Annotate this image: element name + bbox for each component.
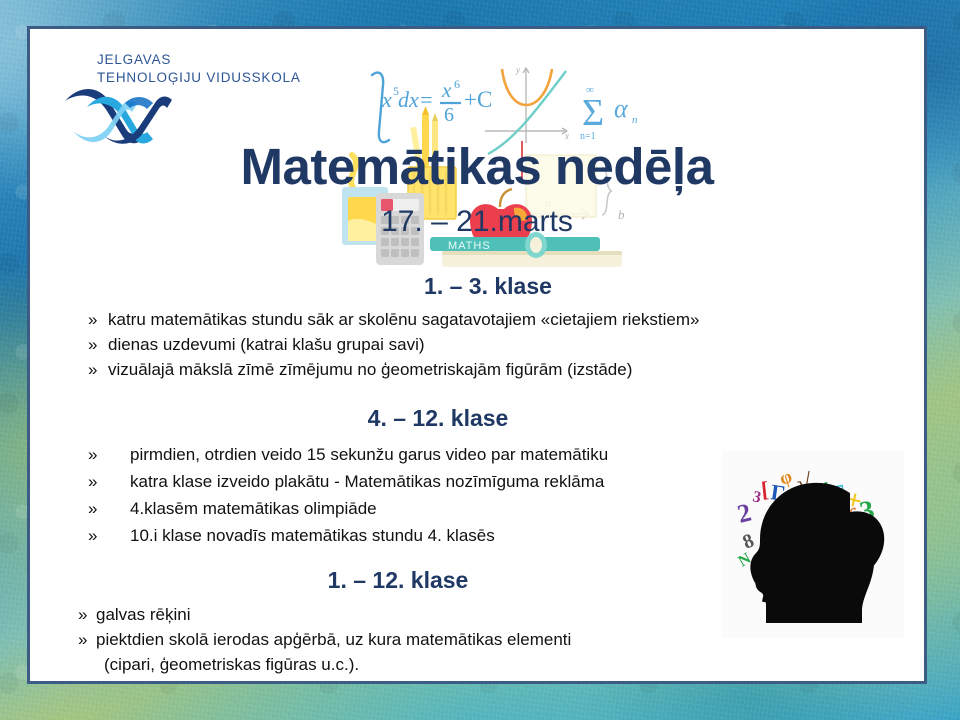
bullet-marker: » xyxy=(88,468,130,495)
section-grades-4-12: 4. – 12. klase » pirmdien, otrdien veido… xyxy=(88,407,788,549)
list-item: » 10.i klase novadīs matemātikas stundu … xyxy=(88,522,788,549)
bullet-marker: » xyxy=(88,441,130,468)
content-card: JELGAVAS TEHNOLOĢIJU VIDUSSKOLA x xyxy=(27,26,927,684)
logo-text-block: JELGAVAS TEHNOLOĢIJU VIDUSSKOLA xyxy=(97,51,301,87)
bullet-marker: » xyxy=(88,495,130,522)
list-item: » vizuālajā mākslā zīmē zīmējumu no ģeom… xyxy=(88,357,888,382)
list-item-text: katru matemātikas stundu sāk ar skolēnu … xyxy=(108,307,700,332)
bullet-marker: » xyxy=(88,357,108,382)
section-heading: 1. – 12. klase xyxy=(78,569,718,592)
svg-text:α: α xyxy=(614,94,629,123)
section-grades-1-12: 1. – 12. klase » galvas rēķini » piektdi… xyxy=(78,569,718,677)
svg-text:n: n xyxy=(632,114,638,126)
list-item-text: galvas rēķini xyxy=(96,602,191,627)
list-item: » pirmdien, otrdien veido 15 sekunžu gar… xyxy=(88,441,788,468)
list-item: » galvas rēķini xyxy=(78,602,718,627)
svg-text:Σ: Σ xyxy=(582,92,604,134)
w-swoosh-icon xyxy=(63,87,175,149)
svg-text:dx=: dx= xyxy=(398,87,434,112)
logo-line-1: JELGAVAS xyxy=(97,51,301,69)
bullet-marker: » xyxy=(88,307,108,332)
list-item-text: vizuālajā mākslā zīmē zīmējumu no ģeomet… xyxy=(108,357,632,382)
bullet-list: » pirmdien, otrdien veido 15 sekunžu gar… xyxy=(88,441,788,549)
bullet-list: » katru matemātikas stundu sāk ar skolēn… xyxy=(88,307,888,382)
list-item: » piektdien skolā ierodas apģērbā, uz ku… xyxy=(78,627,718,652)
svg-text:+C: +C xyxy=(464,87,492,112)
list-item-text: 10.i klase novadīs matemātikas stundu 4.… xyxy=(130,522,495,549)
page-title: Matemātikas nedēļa xyxy=(30,141,924,192)
list-item-text: dienas uzdevumi (katrai klašu grupai sav… xyxy=(108,332,425,357)
logo-line-2: TEHNOLOĢIJU VIDUSSKOLA xyxy=(97,69,301,87)
bullet-marker: » xyxy=(78,627,96,652)
svg-text:MATHS: MATHS xyxy=(448,240,491,252)
section-heading: 1. – 3. klase xyxy=(88,275,888,298)
svg-text:5: 5 xyxy=(393,84,399,98)
page-subtitle: 17. – 21.marts xyxy=(30,207,924,237)
list-item-text: pirmdien, otrdien veido 15 sekunžu garus… xyxy=(130,441,608,468)
slide-root: JELGAVAS TEHNOLOĢIJU VIDUSSKOLA x xyxy=(0,0,960,720)
list-item: » katra klase izveido plakātu - Matemāti… xyxy=(88,468,788,495)
list-item-text: piektdien skolā ierodas apģērbā, uz kura… xyxy=(96,627,571,652)
bullet-list: » galvas rēķini » piektdien skolā ieroda… xyxy=(78,602,718,652)
svg-text:6: 6 xyxy=(454,77,460,91)
svg-text:y: y xyxy=(515,65,520,75)
list-item-text: 4.klasēm matemātikas olimpiāde xyxy=(130,495,377,522)
bullet-marker: » xyxy=(78,602,96,627)
section-grades-1-3: 1. – 3. klase » katru matemātikas stundu… xyxy=(88,275,888,382)
svg-text:x: x xyxy=(441,78,452,102)
svg-text:∞: ∞ xyxy=(586,84,594,96)
school-logo: JELGAVAS TEHNOLOĢIJU VIDUSSKOLA xyxy=(47,47,292,152)
section-heading: 4. – 12. klase xyxy=(88,407,788,430)
svg-text:x: x xyxy=(381,87,392,112)
bullet-marker: » xyxy=(88,332,108,357)
svg-text:6: 6 xyxy=(444,104,454,126)
bullet-marker: » xyxy=(88,522,130,549)
list-item: » 4.klasēm matemātikas olimpiāde xyxy=(88,495,788,522)
list-item: » dienas uzdevumi (katrai klašu grupai s… xyxy=(88,332,888,357)
list-item-continuation: (cipari, ģeometriskas figūras u.c.). xyxy=(78,652,718,677)
list-item: » katru matemātikas stundu sāk ar skolēn… xyxy=(88,307,888,332)
list-item-text: katra klase izveido plakātu - Matemātika… xyxy=(130,468,604,495)
math-head-silhouette: 2 3 [ Γ φ 7 √ 4 Ƭ + β ∫ 5 3 2 α ÷ i 8 8 xyxy=(722,451,904,638)
